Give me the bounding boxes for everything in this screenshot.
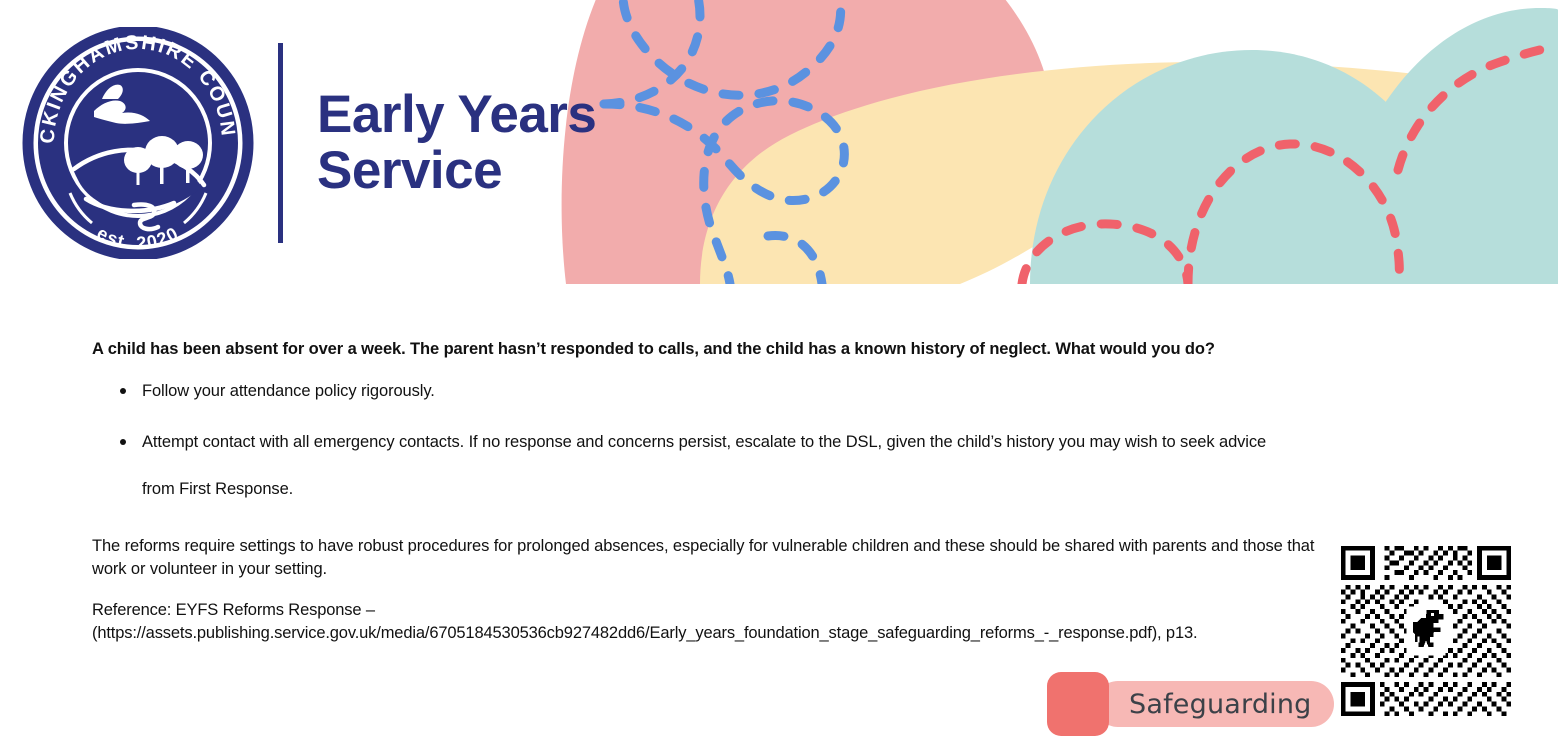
answer-options-list: Follow your attendance policy rigorously… bbox=[92, 377, 1382, 526]
bullet-dot-icon bbox=[120, 439, 126, 445]
scenario-prompt: A child has been absent for over a week.… bbox=[92, 340, 1392, 359]
list-item-text: Follow your attendance policy rigorously… bbox=[142, 382, 435, 400]
qr-code[interactable] bbox=[1336, 541, 1516, 721]
reference-line-1: Reference: EYFS Reforms Response – bbox=[92, 599, 1317, 622]
safeguarding-badge: Safeguarding bbox=[1047, 672, 1334, 736]
page-title: Early Years Service bbox=[317, 87, 596, 199]
reference-line-2: (https://assets.publishing.service.gov.u… bbox=[92, 622, 1317, 645]
brand-lockup: BUCKINGHAMSHIRE COUNCIL est. 2020 Early … bbox=[22, 18, 582, 268]
brand-divider bbox=[278, 43, 283, 243]
safeguarding-badge-label: Safeguarding bbox=[1129, 689, 1312, 720]
bullet-dot-icon bbox=[120, 388, 126, 394]
safeguarding-badge-square-icon bbox=[1047, 672, 1109, 736]
list-item-text: Attempt contact with all emergency conta… bbox=[142, 433, 1266, 451]
safeguarding-badge-pill: Safeguarding bbox=[1095, 681, 1334, 727]
guidance-paragraph: The reforms require settings to have rob… bbox=[92, 535, 1317, 582]
reference-block: Reference: EYFS Reforms Response – (http… bbox=[92, 599, 1317, 646]
list-item: Follow your attendance policy rigorously… bbox=[92, 377, 1382, 406]
list-item-continuation: from First Response. bbox=[142, 475, 1382, 504]
list-item: Attempt contact with all emergency conta… bbox=[92, 428, 1382, 504]
page-header: BUCKINGHAMSHIRE COUNCIL est. 2020 Early … bbox=[0, 0, 1558, 284]
buckinghamshire-council-crest-icon: BUCKINGHAMSHIRE COUNCIL est. 2020 bbox=[22, 27, 254, 259]
